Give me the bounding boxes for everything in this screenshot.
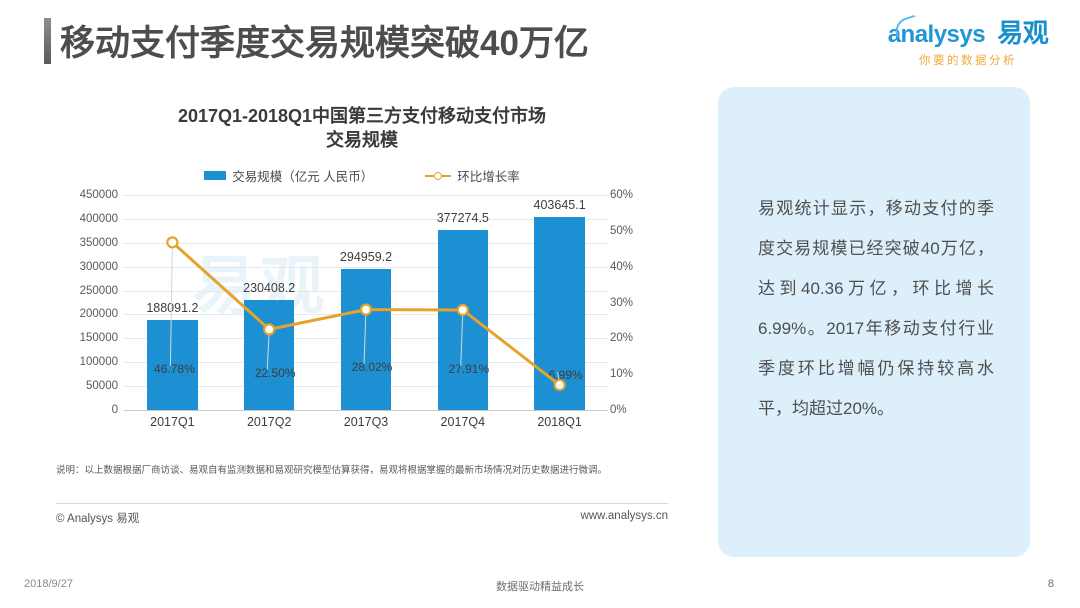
analysys-logo: analysys 易观 你要的数据分析 <box>878 20 1058 68</box>
y-axis-right-tick: 40% <box>610 261 633 273</box>
logo-wordmark: analysys 易观 <box>878 20 1058 47</box>
y-axis-left-tick: 450000 <box>80 189 118 201</box>
y-axis-right-labels: 0%10%20%30%40%50%60% <box>610 195 670 415</box>
x-axis-tick: 2018Q1 <box>537 415 581 429</box>
chart-copyright: © Analysys 易观 <box>56 510 139 526</box>
y-axis-right-tick: 60% <box>610 189 633 201</box>
line-data-point <box>167 237 177 247</box>
y-axis-left-labels: 0500001000001500002000002500003000003500… <box>42 195 118 415</box>
logo-brand-cn: 易观 <box>997 18 1048 48</box>
y-axis-left-tick: 400000 <box>80 213 118 225</box>
legend-label-bar: 交易规模（亿元 人民币） <box>232 166 373 185</box>
commentary-text: 易观统计显示，移动支付的季度交易规模已经突破40万亿，达到40.36万亿，环比增… <box>758 189 994 429</box>
legend-item-bar: 交易规模（亿元 人民币） <box>204 166 373 185</box>
x-axis-tick: 2017Q3 <box>344 415 388 429</box>
x-axis-tick: 2017Q4 <box>441 415 485 429</box>
line-data-point <box>555 380 565 390</box>
chart-card: 2017Q1-2018Q1中国第三方支付移动支付市场 交易规模 交易规模（亿元 … <box>42 98 682 538</box>
leader-line <box>461 310 463 366</box>
legend-item-line: 环比增长率 <box>425 166 520 185</box>
footer-slogan: 数据驱动精益成长 <box>0 578 1080 594</box>
y-axis-right-tick: 50% <box>610 225 633 237</box>
y-axis-left-tick: 200000 <box>80 308 118 320</box>
chart-title-line-1: 2017Q1-2018Q1中国第三方支付移动支付市场 <box>42 104 682 128</box>
gridline <box>124 410 608 411</box>
line-data-point <box>264 324 274 334</box>
leader-line <box>267 329 269 370</box>
legend-line-swatch-icon <box>425 171 451 181</box>
y-axis-left-tick: 350000 <box>80 237 118 249</box>
leader-line <box>364 310 366 364</box>
title-accent-bar <box>44 18 51 64</box>
chart-divider <box>56 503 668 504</box>
page-header: 移动支付季度交易规模突破40万亿 analysys 易观 你要的数据分析 <box>0 0 1080 82</box>
y-axis-right-tick: 30% <box>610 297 633 309</box>
x-axis-tick: 2017Q2 <box>247 415 291 429</box>
leader-line <box>170 242 172 366</box>
chart-title-line-2: 交易规模 <box>42 128 682 152</box>
y-axis-right-tick: 20% <box>610 332 633 344</box>
commentary-panel: 易观统计显示，移动支付的季度交易规模已经突破40万亿，达到40.36万亿，环比增… <box>718 87 1030 557</box>
y-axis-left-tick: 250000 <box>80 285 118 297</box>
logo-tagline: 你要的数据分析 <box>878 52 1058 68</box>
y-axis-left-tick: 0 <box>112 404 118 416</box>
chart-footnote: 说明：以上数据根据厂商访谈、易观自有监测数据和易观研究模型估算获得，易观将根据掌… <box>56 463 668 478</box>
legend-label-line: 环比增长率 <box>457 166 520 185</box>
page-title: 移动支付季度交易规模突破40万亿 <box>60 15 589 66</box>
footer-page-number: 8 <box>1048 578 1054 590</box>
y-axis-left-tick: 100000 <box>80 356 118 368</box>
legend-bar-swatch-icon <box>204 171 226 180</box>
line-data-point <box>458 305 468 315</box>
y-axis-right-tick: 0% <box>610 404 627 416</box>
y-axis-left-tick: 300000 <box>80 261 118 273</box>
y-axis-left-tick: 150000 <box>80 332 118 344</box>
chart-legend: 交易规模（亿元 人民币） 环比增长率 <box>42 166 682 185</box>
chart-source-row: © Analysys 易观 www.analysys.cn <box>56 510 668 526</box>
y-axis-left-tick: 50000 <box>86 380 118 392</box>
chart-website-link[interactable]: www.analysys.cn <box>580 510 668 526</box>
chart-plot-area: 易观 0500001000001500002000002500003000003… <box>42 195 682 440</box>
y-axis-right-tick: 10% <box>610 368 633 380</box>
x-axis-tick: 2017Q1 <box>150 415 194 429</box>
chart-line-series <box>124 195 608 410</box>
chart-title: 2017Q1-2018Q1中国第三方支付移动支付市场 交易规模 <box>42 104 682 152</box>
line-data-point <box>361 305 371 315</box>
